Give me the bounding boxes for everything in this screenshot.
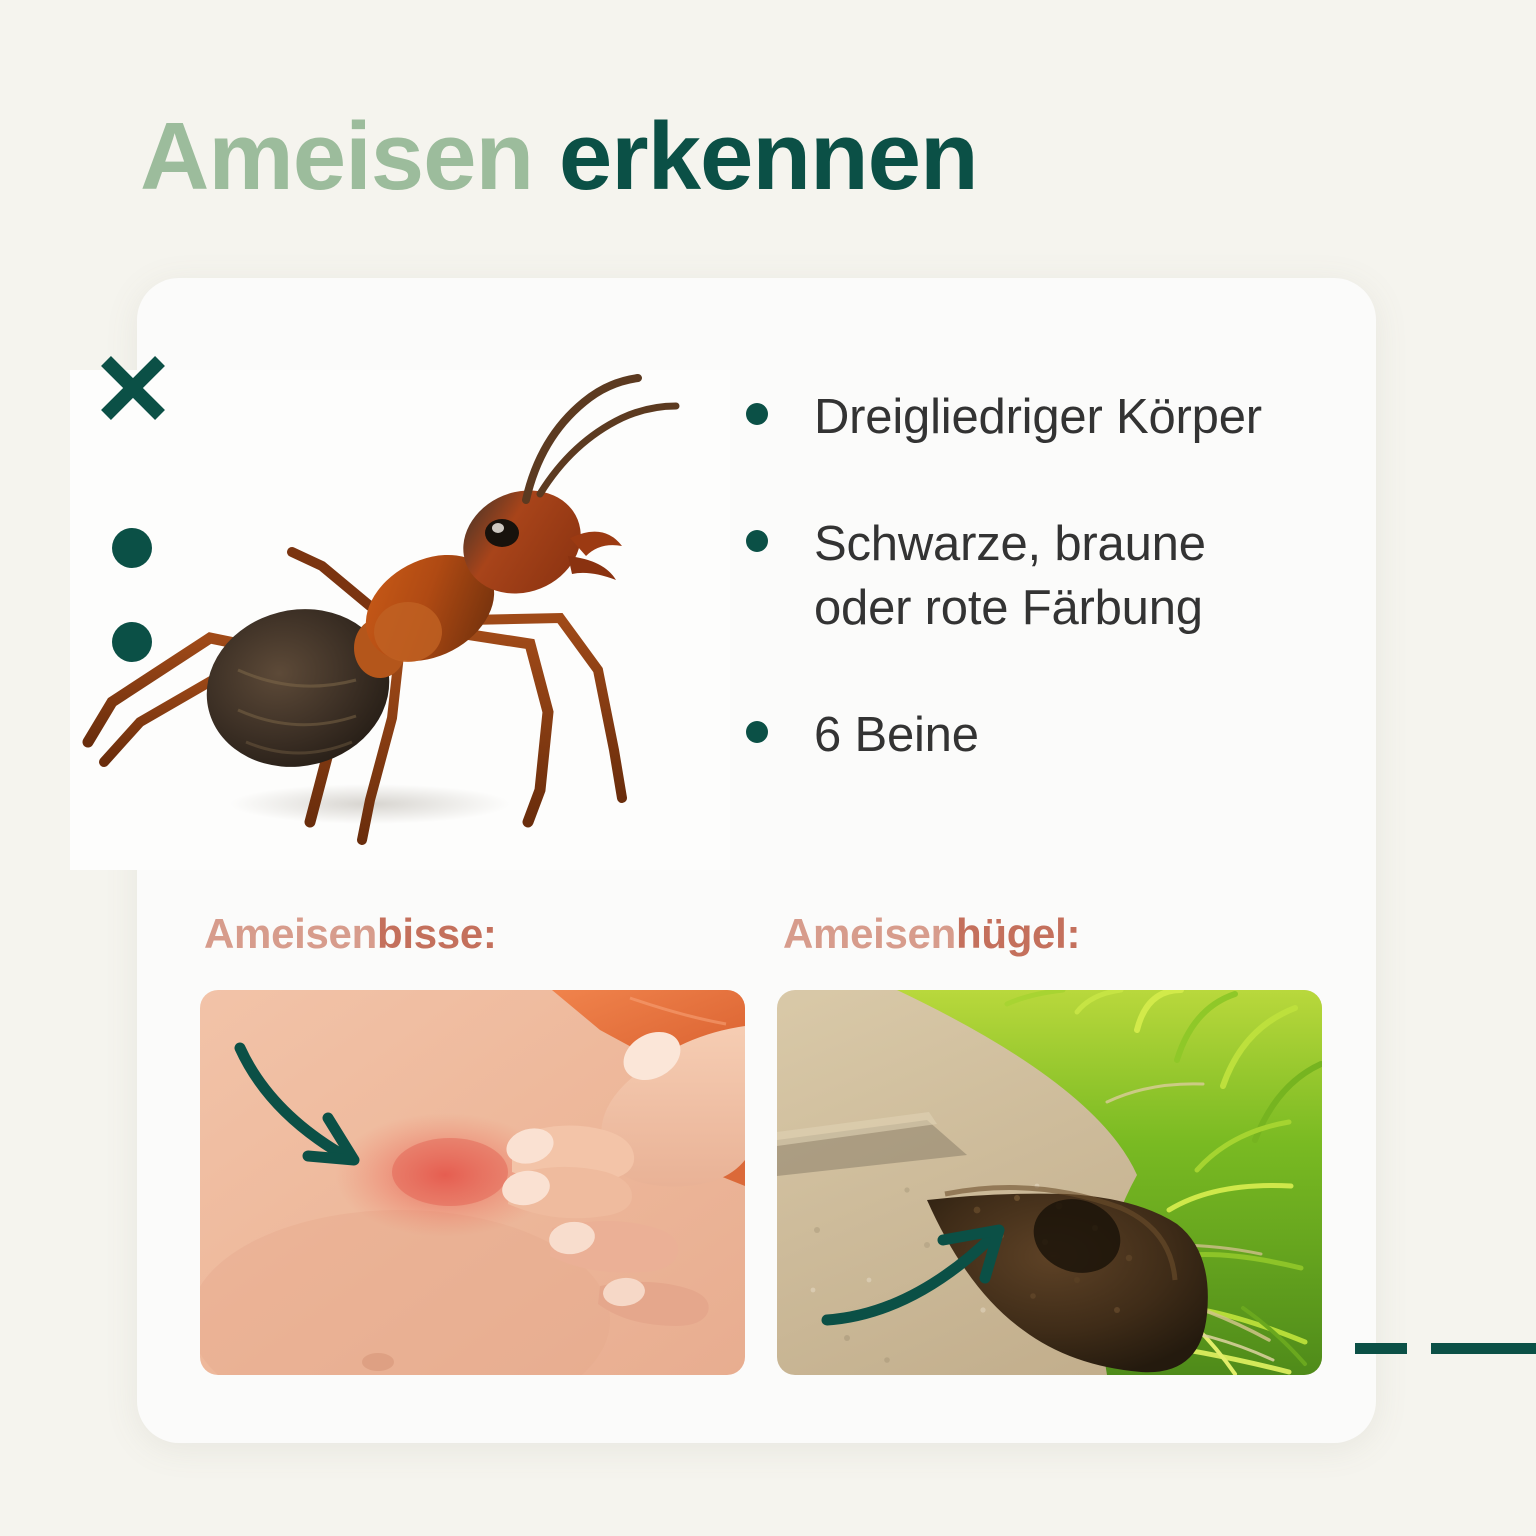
bullet-dot-icon [746, 721, 768, 743]
section-heading-hills-dark: hügel: [956, 910, 1080, 957]
section-heading-bites: Ameisenbisse: [204, 910, 497, 958]
dot-decoration-lower [112, 622, 152, 662]
page-title: Ameisen erkennen [140, 104, 978, 210]
ant-photo [70, 370, 730, 870]
list-item-label: 6 Beine [814, 703, 979, 768]
section-heading-hills-light: Ameisen [783, 910, 956, 957]
ant-bite-photo [200, 990, 745, 1375]
dashed-line-decoration [1355, 1343, 1536, 1354]
dot-decoration-upper [112, 528, 152, 568]
x-mark-icon [97, 352, 169, 424]
list-item: Schwarze, braune oder rote Färbung [746, 512, 1316, 641]
page-title-light-part: Ameisen [140, 103, 533, 210]
list-item-label: Schwarze, braune oder rote Färbung [814, 512, 1316, 641]
page-title-dark-part: erkennen [559, 103, 978, 210]
bullet-dot-icon [746, 403, 768, 425]
section-heading-hills: Ameisenhügel: [783, 910, 1080, 958]
list-item-label: Dreigliedriger Körper [814, 385, 1262, 450]
section-heading-bites-dark: bisse: [377, 910, 497, 957]
list-item: 6 Beine [746, 703, 1316, 768]
list-item: Dreigliedriger Körper [746, 385, 1316, 450]
bullet-dot-icon [746, 530, 768, 552]
section-heading-bites-light: Ameisen [204, 910, 377, 957]
ant-traits-list: Dreigliedriger Körper Schwarze, braune o… [746, 385, 1316, 768]
ant-hill-photo [777, 990, 1322, 1375]
